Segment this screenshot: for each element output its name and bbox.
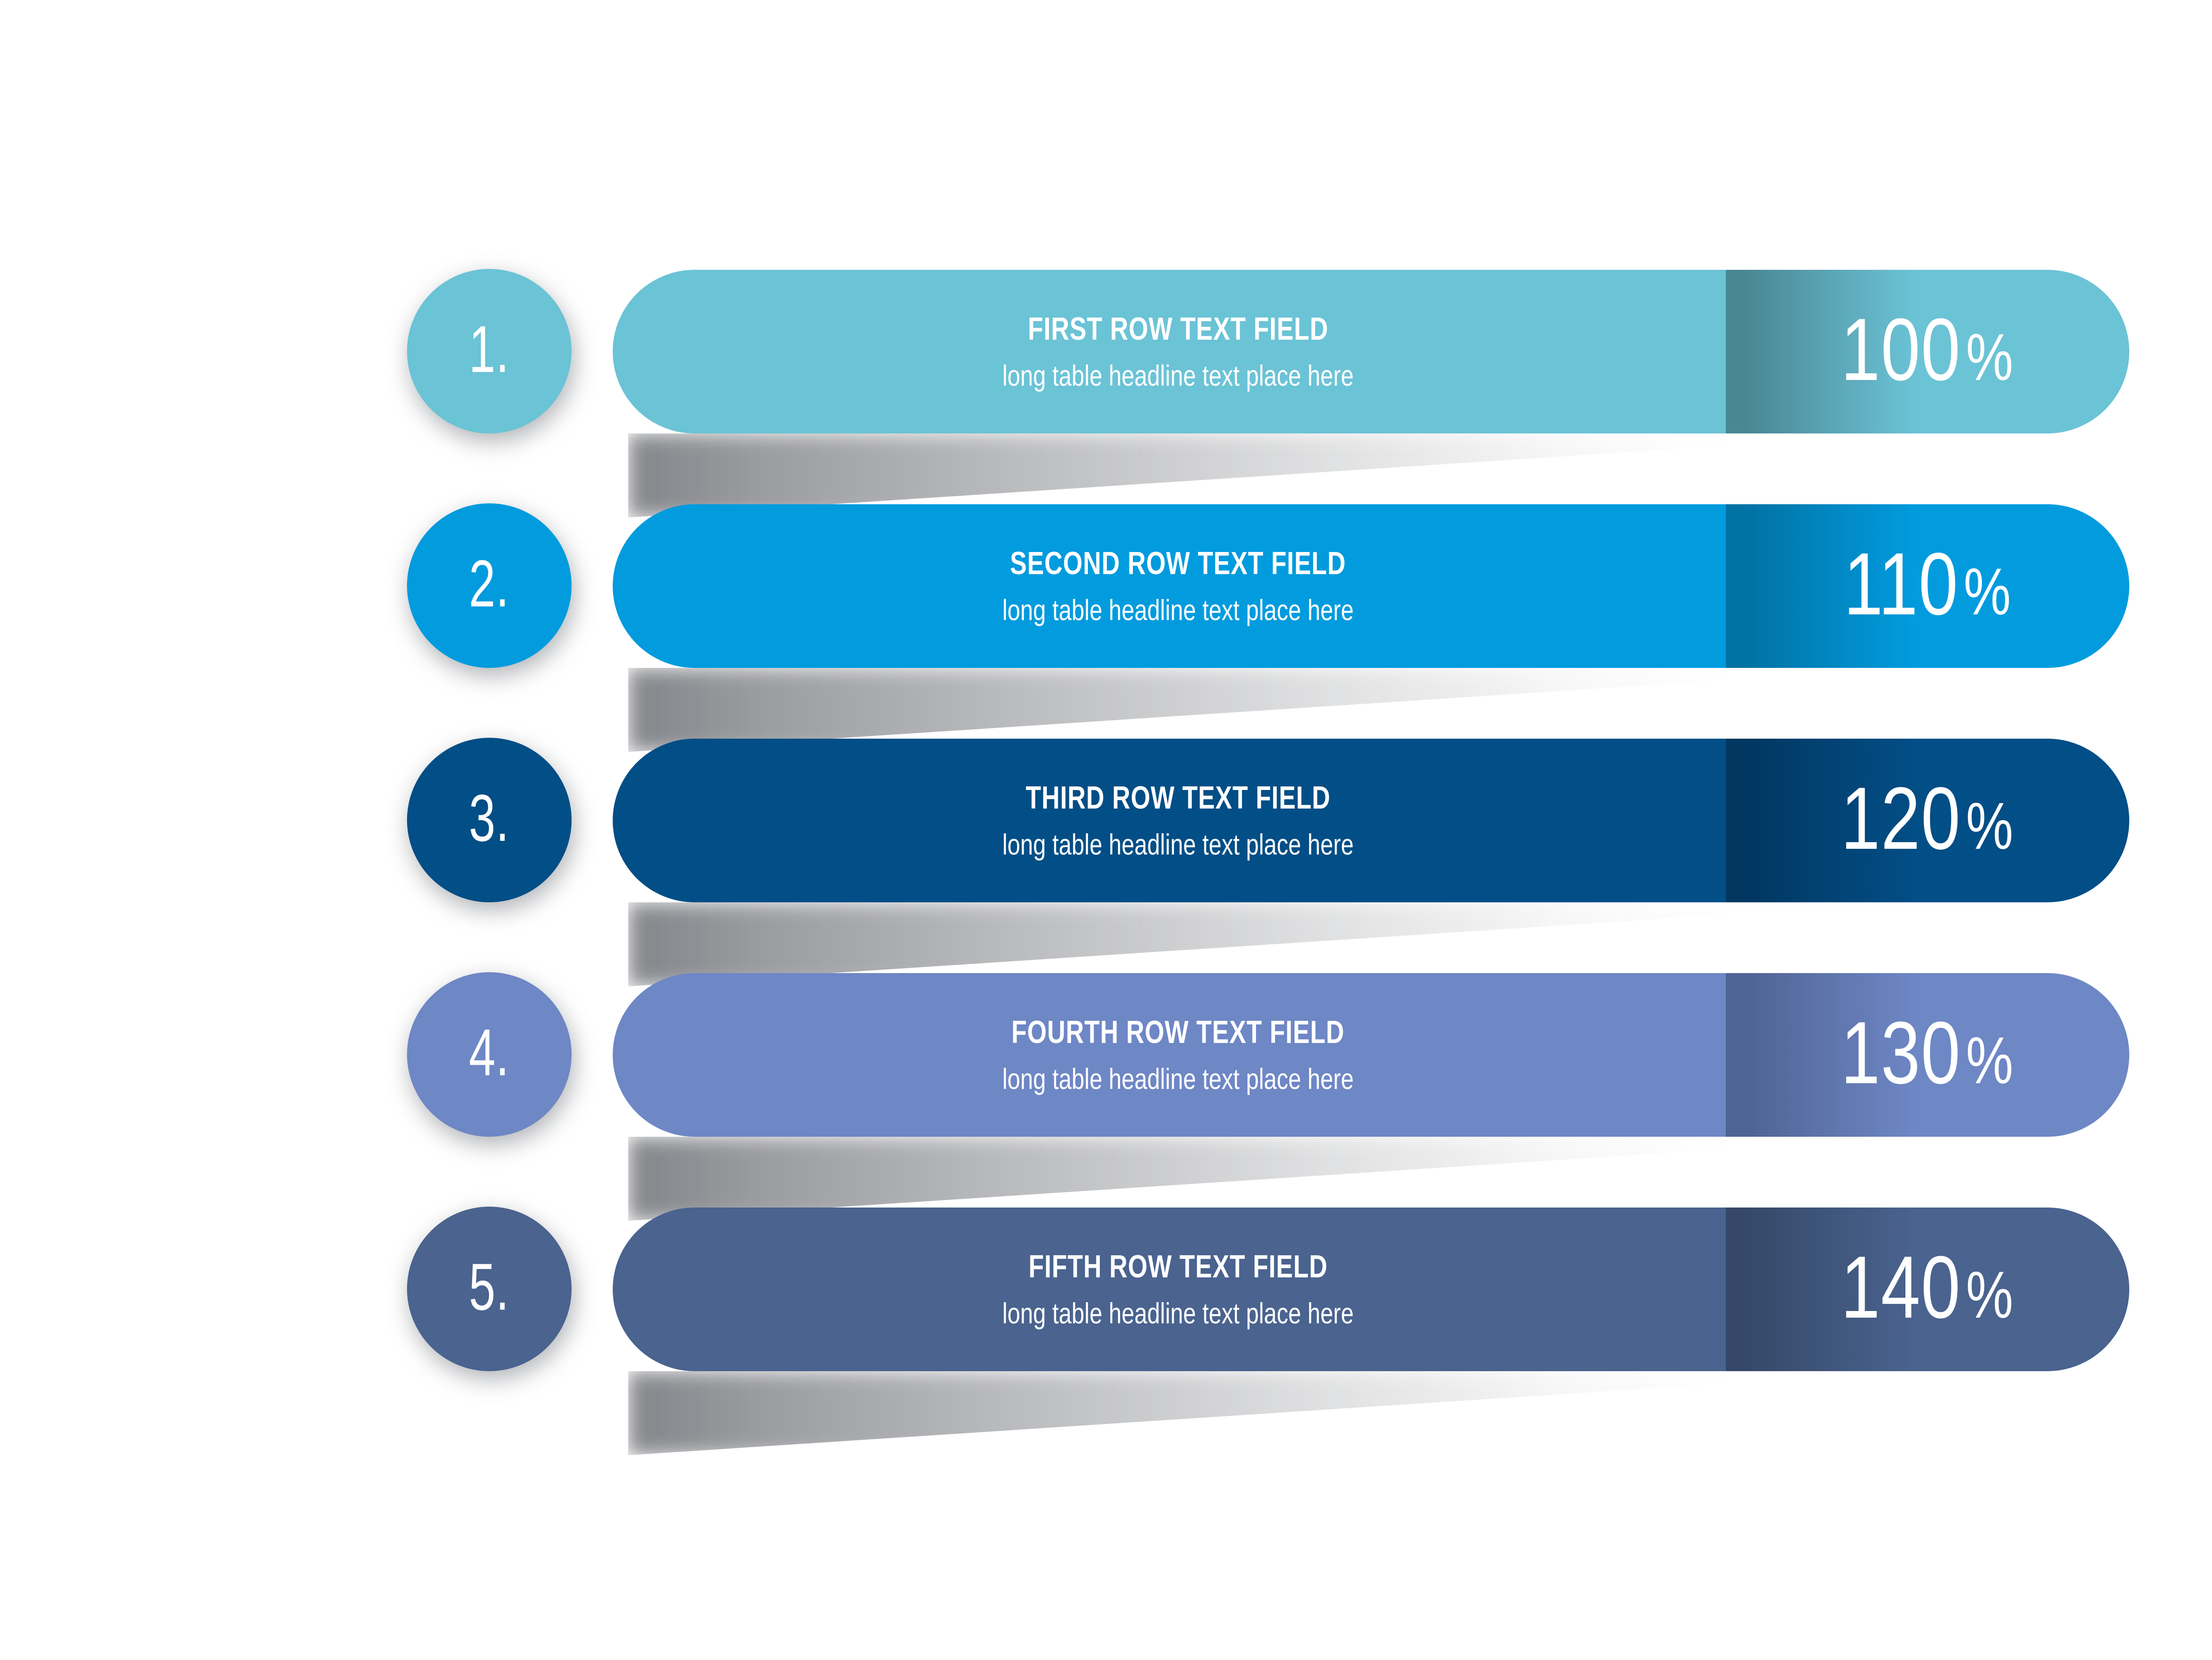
row-number-label: 1. (469, 316, 510, 387)
percent-symbol: % (1961, 1023, 2014, 1097)
row-number-label: 4. (469, 1019, 510, 1090)
row-percent-value: 140% (1841, 1243, 2014, 1335)
row-number-label: 5. (469, 1254, 510, 1324)
row-text-block: SECOND ROW TEXT FIELD long table headlin… (613, 504, 1726, 668)
row-title: FOURTH ROW TEXT FIELD (1012, 1016, 1345, 1048)
row-text-block: THIRD ROW TEXT FIELD long table headline… (613, 739, 1726, 902)
infographic-row: 2. SECOND ROW TEXT FIELD long table head… (0, 495, 2212, 729)
row-title: THIRD ROW TEXT FIELD (1026, 782, 1331, 814)
percent-symbol: % (1961, 789, 2014, 863)
bar-drop-shadow (628, 1371, 1734, 1455)
row-percent-value: 130% (1841, 1009, 2014, 1101)
row-subtitle: long table headline text place here (1002, 1299, 1354, 1328)
percent-symbol: % (1961, 1257, 2014, 1332)
row-text-block: FIFTH ROW TEXT FIELD long table headline… (613, 1208, 1726, 1371)
row-number-badge[interactable]: 5. (407, 1207, 572, 1371)
percent-symbol: % (1961, 320, 2014, 394)
row-number-badge[interactable]: 4. (407, 972, 572, 1137)
row-number-label: 3. (469, 785, 510, 855)
row-bar[interactable]: FIRST ROW TEXT FIELD long table headline… (613, 270, 2129, 433)
row-bar[interactable]: SECOND ROW TEXT FIELD long table headlin… (613, 504, 2129, 668)
row-percent-number: 120 (1841, 769, 1961, 868)
row-percent-number: 100 (1841, 300, 1961, 399)
row-number-badge[interactable]: 1. (407, 269, 572, 433)
row-subtitle: long table headline text place here (1002, 1064, 1354, 1093)
infographic-row: 3. THIRD ROW TEXT FIELD long table headl… (0, 729, 2212, 963)
row-title: FIRST ROW TEXT FIELD (1028, 313, 1328, 345)
row-percent-number: 110 (1843, 535, 1959, 633)
row-percent-block: 100% (1726, 270, 2129, 433)
row-number-circle[interactable]: 2. (407, 503, 572, 668)
row-percent-value: 120% (1841, 774, 2014, 866)
row-text-block: FOURTH ROW TEXT FIELD long table headlin… (613, 973, 1726, 1137)
row-number-badge[interactable]: 2. (407, 503, 572, 668)
row-number-circle[interactable]: 3. (407, 738, 572, 902)
row-bar[interactable]: FIFTH ROW TEXT FIELD long table headline… (613, 1208, 2129, 1371)
row-title: SECOND ROW TEXT FIELD (1010, 548, 1346, 579)
row-number-circle[interactable]: 4. (407, 972, 572, 1137)
infographic-row: 1. FIRST ROW TEXT FIELD long table headl… (0, 260, 2212, 495)
row-number-badge[interactable]: 3. (407, 738, 572, 902)
row-text-block: FIRST ROW TEXT FIELD long table headline… (613, 270, 1726, 433)
row-percent-block: 130% (1726, 973, 2129, 1137)
row-percent-number: 130 (1841, 1004, 1961, 1102)
row-subtitle: long table headline text place here (1002, 830, 1354, 859)
row-percent-number: 140 (1841, 1238, 1961, 1337)
row-subtitle: long table headline text place here (1002, 361, 1354, 390)
row-bar[interactable]: FOURTH ROW TEXT FIELD long table headlin… (613, 973, 2129, 1137)
infographic-root: 1. FIRST ROW TEXT FIELD long table headl… (0, 0, 2212, 1660)
row-percent-block: 110% (1726, 504, 2129, 668)
row-number-circle[interactable]: 1. (407, 269, 572, 433)
row-subtitle: long table headline text place here (1002, 595, 1354, 625)
row-percent-block: 140% (1726, 1208, 2129, 1371)
infographic-row: 4. FOURTH ROW TEXT FIELD long table head… (0, 963, 2212, 1198)
row-number-circle[interactable]: 5. (407, 1207, 572, 1371)
row-title: FIFTH ROW TEXT FIELD (1029, 1251, 1328, 1283)
row-number-label: 2. (469, 550, 510, 621)
percent-symbol: % (1959, 554, 2012, 629)
infographic-row: 5. FIFTH ROW TEXT FIELD long table headl… (0, 1198, 2212, 1432)
row-bar[interactable]: THIRD ROW TEXT FIELD long table headline… (613, 739, 2129, 902)
row-percent-block: 120% (1726, 739, 2129, 902)
row-percent-value: 110% (1843, 540, 2011, 632)
row-percent-value: 100% (1841, 306, 2014, 398)
